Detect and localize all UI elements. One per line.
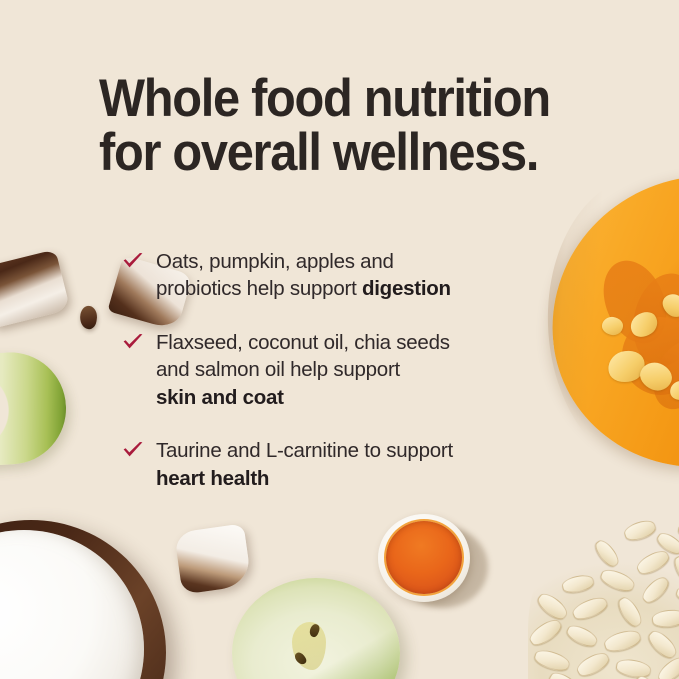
promotional-banner: Whole food nutrition for overall wellnes… (0, 0, 679, 679)
headline-line-2: for overall wellness. (99, 126, 559, 180)
check-icon (122, 333, 144, 353)
list-item: Oats, pumpkin, apples andprobiotics help… (122, 248, 582, 303)
check-icon (122, 252, 144, 272)
list-item-label: Taurine and L-carnitine to supportheart … (156, 439, 453, 489)
list-item-label: Oats, pumpkin, apples andprobiotics help… (156, 250, 451, 300)
page-title: Whole food nutrition for overall wellnes… (99, 72, 559, 180)
check-icon (122, 441, 144, 461)
headline-line-1: Whole food nutrition (99, 72, 559, 126)
list-item-label: Flaxseed, coconut oil, chia seedsand sal… (156, 331, 450, 409)
list-item: Taurine and L-carnitine to supportheart … (122, 437, 582, 492)
list-item: Flaxseed, coconut oil, chia seedsand sal… (122, 329, 582, 411)
content-layer: Whole food nutrition for overall wellnes… (0, 0, 679, 679)
benefits-list: Oats, pumpkin, apples andprobiotics help… (122, 248, 582, 492)
